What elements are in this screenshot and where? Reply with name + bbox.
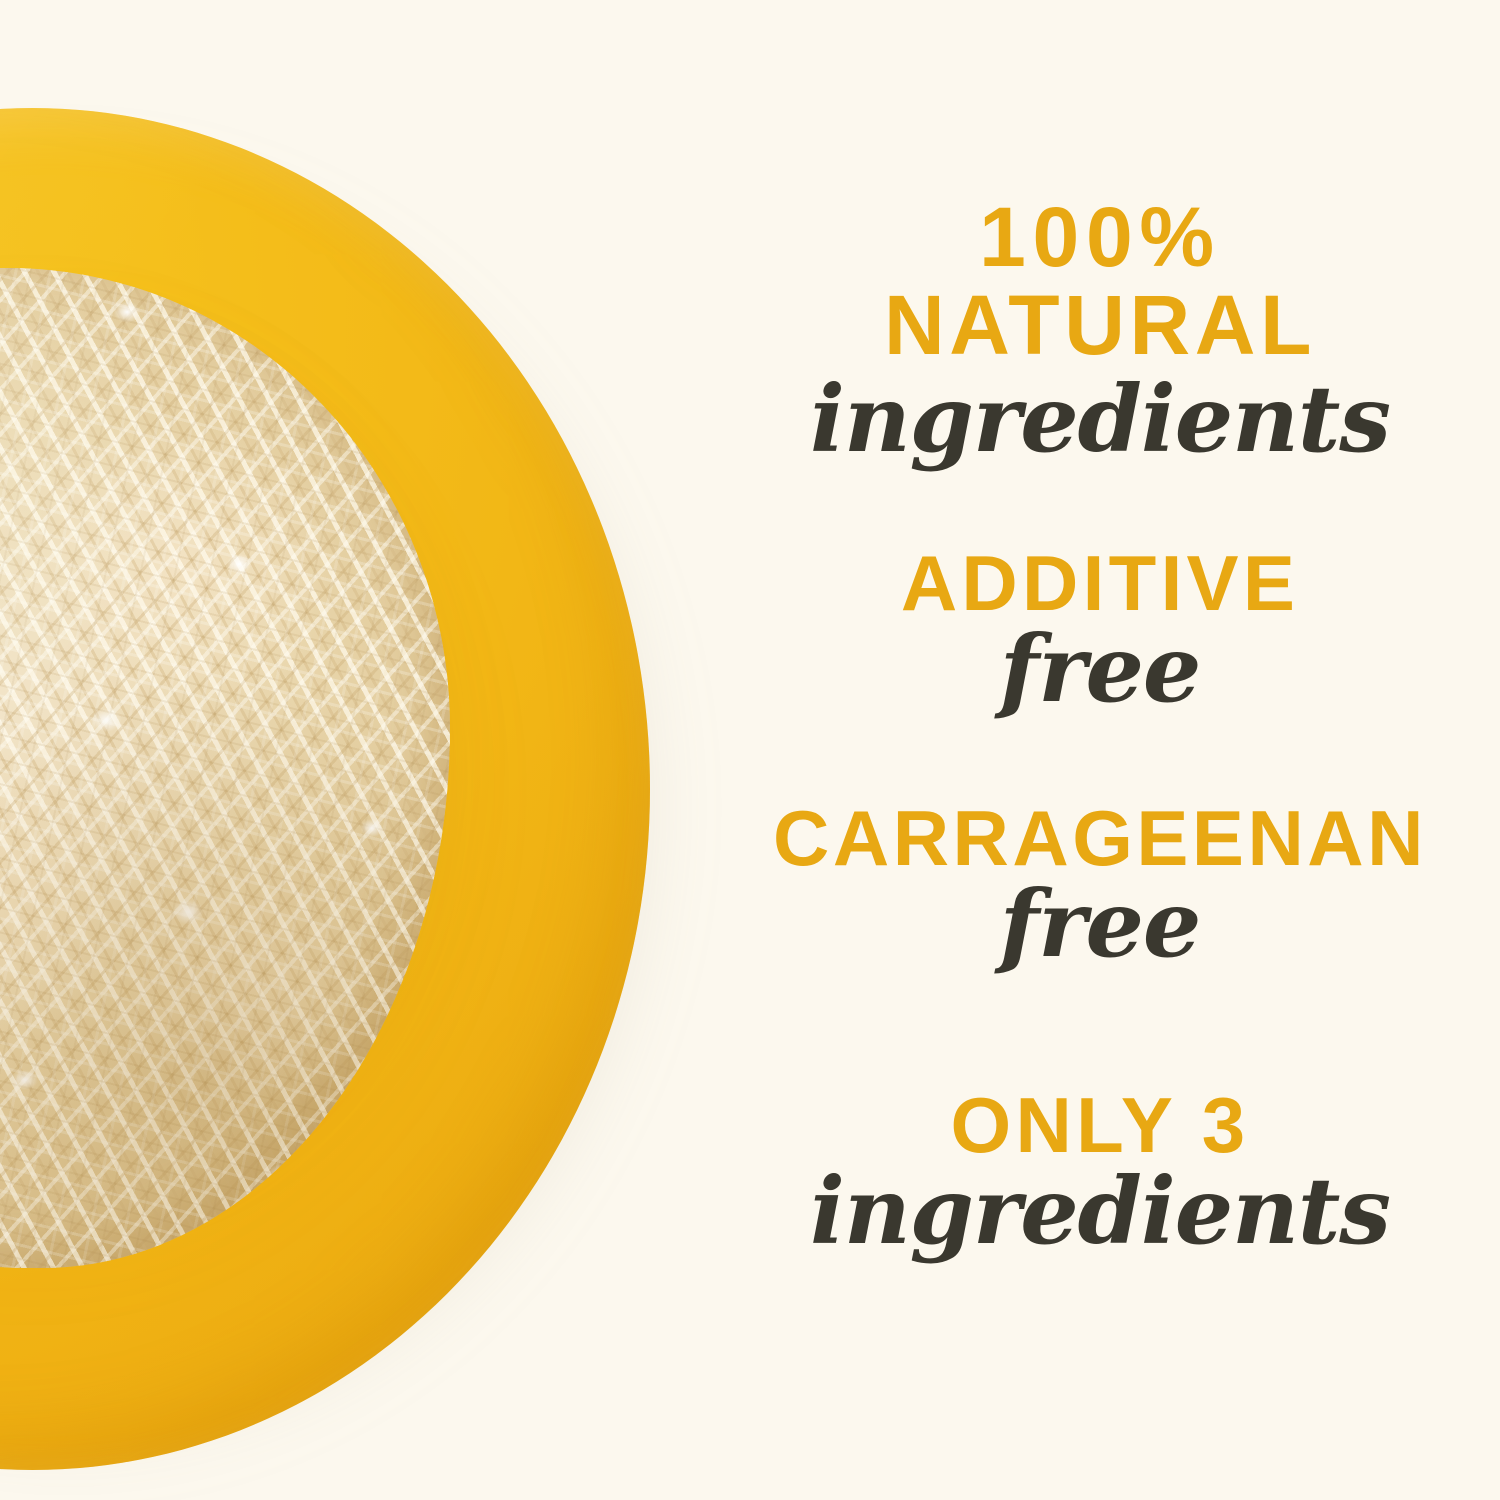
benefit-only-3: ONLY 3 ingredients <box>700 1087 1500 1256</box>
benefit-carrageenan: CARRAGEENAN free <box>700 800 1500 969</box>
benefit-only-3-headline: ONLY 3 <box>700 1087 1500 1163</box>
benefit-additive-script: free <box>700 625 1500 713</box>
product-benefits-panel: 100% NATURAL ingredients ADDITIVE free C… <box>0 0 1500 1500</box>
benefit-additive-headline: ADDITIVE <box>700 545 1500 621</box>
benefit-carrageenan-headline: CARRAGEENAN <box>700 800 1500 876</box>
benefit-natural-headline-1: 100% <box>700 196 1500 278</box>
benefit-carrageenan-script: free <box>700 880 1500 968</box>
rice-grains-layer <box>0 268 450 1268</box>
benefit-natural-headline-2: NATURAL <box>700 284 1500 366</box>
benefit-natural: 100% NATURAL ingredients <box>700 196 1500 463</box>
benefit-natural-script: ingredients <box>700 375 1500 463</box>
benefit-additive: ADDITIVE free <box>700 545 1500 714</box>
benefit-only-3-script: ingredients <box>700 1167 1500 1255</box>
product-photo <box>0 0 760 1500</box>
benefit-claims-list: 100% NATURAL ingredients ADDITIVE free C… <box>700 0 1500 1500</box>
shredded-chicken-rice-mound <box>0 268 450 1268</box>
